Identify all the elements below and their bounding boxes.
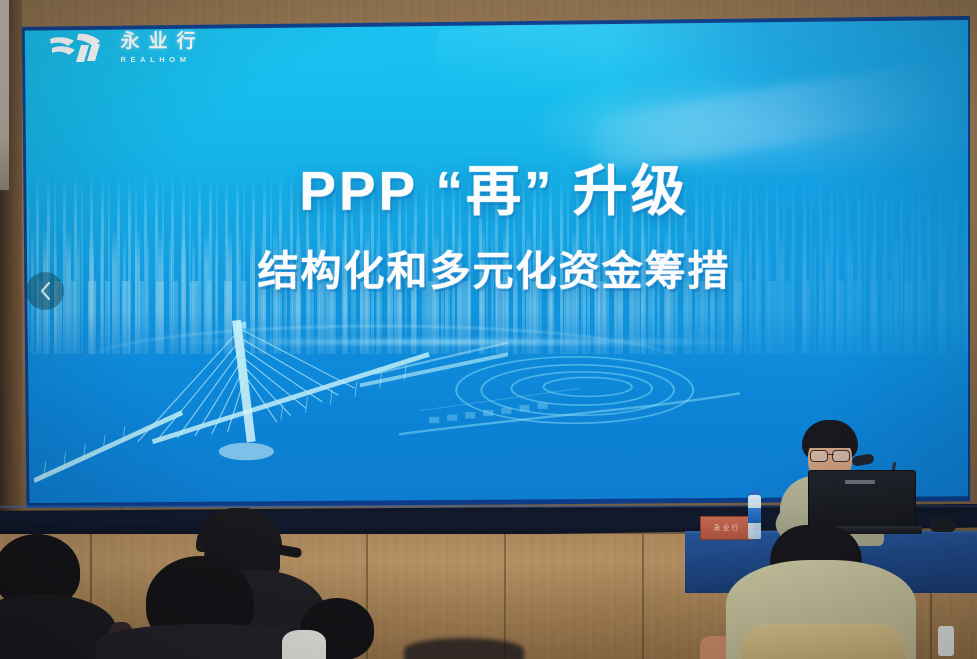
chevron-left-icon <box>38 281 53 301</box>
audience-head-blurred <box>404 638 524 659</box>
left-light-strip <box>0 0 9 190</box>
logo-english-name: REALHOM <box>120 56 204 64</box>
slide-headline: PPP “再” 升级 结构化和多元化资金筹措 <box>20 162 968 296</box>
slide-logo: 永业行 REALHOM <box>48 31 204 65</box>
carousel-prev-button[interactable] <box>26 272 64 310</box>
yh-monogram-icon <box>48 31 110 65</box>
laptop-screen <box>808 470 916 530</box>
slide-stadium-illustration <box>399 349 740 475</box>
presenter-glasses-icon <box>808 450 852 460</box>
presenter-fringe <box>804 428 856 448</box>
computer-mouse <box>930 518 956 532</box>
name-card: 永业行 <box>700 516 754 540</box>
audience-water-bottle <box>938 626 954 656</box>
logo-chinese-name: 永业行 <box>120 32 204 51</box>
slide-title-line1: PPP “再” 升级 <box>20 162 968 220</box>
water-bottle-label <box>748 508 761 523</box>
photo-canvas: 永业行 REALHOM PPP “再” 升级 结构化和多元化资金筹措 永业行 <box>0 0 977 659</box>
audience-white-collar <box>282 630 326 659</box>
laptop-brand-mark <box>845 480 875 484</box>
slide-title-line2: 结构化和多元化资金筹措 <box>20 237 968 297</box>
audience-chair-back-right <box>742 624 906 659</box>
